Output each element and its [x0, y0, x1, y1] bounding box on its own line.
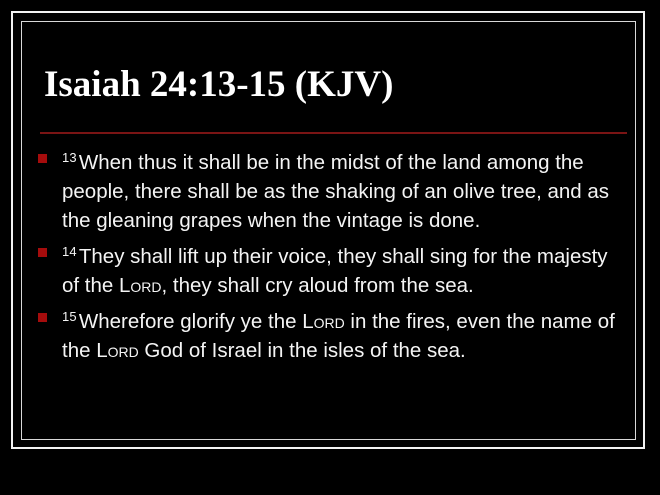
verse-item: 14They shall lift up their voice, they s… [22, 237, 635, 300]
divine-name-smallcaps: Lord [119, 274, 162, 297]
bullet-square-icon [38, 248, 47, 257]
verse-text: God of Israel in the isles of the sea. [139, 339, 466, 362]
bullet-square-icon [38, 154, 47, 163]
divine-name-smallcaps: Lord [96, 339, 139, 362]
title-divider-rule [40, 132, 627, 134]
bullet-square-icon [38, 313, 47, 322]
verse-number: 15 [62, 309, 79, 324]
slide-canvas: Isaiah 24:13-15 (KJV) 13When thus it sha… [0, 0, 660, 495]
slide-title: Isaiah 24:13-15 (KJV) [44, 63, 393, 107]
verse-item: 15Wherefore glorify ye the Lord in the f… [22, 302, 635, 365]
verse-list: 13When thus it shall be in the midst of … [22, 143, 635, 439]
slide-frame-inner: Isaiah 24:13-15 (KJV) 13When thus it sha… [21, 21, 636, 440]
verse-number: 13 [62, 150, 79, 165]
divine-name-smallcaps: Lord [302, 310, 345, 333]
verse-text: , they shall cry aloud from the sea. [162, 274, 474, 297]
verse-text: Wherefore glorify ye the [79, 310, 302, 333]
verse-number: 14 [62, 244, 79, 259]
slide-frame-outer: Isaiah 24:13-15 (KJV) 13When thus it sha… [11, 11, 645, 449]
verse-item: 13When thus it shall be in the midst of … [22, 143, 635, 235]
verse-text: When thus it shall be in the midst of th… [62, 151, 609, 232]
